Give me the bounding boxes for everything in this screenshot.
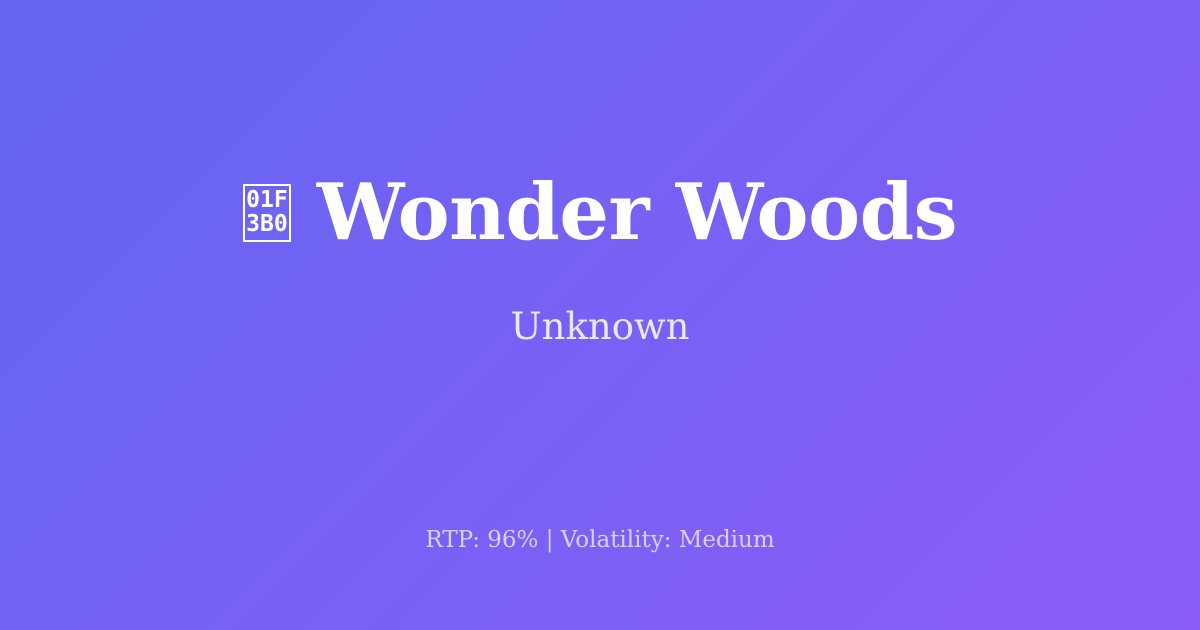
og-preview-card: 01F 3B0 Wonder Woods Unknown RTP: 96% | … bbox=[0, 0, 1200, 630]
hero-block: 01F 3B0 Wonder Woods Unknown bbox=[0, 174, 1200, 345]
game-stats-line: RTP: 96% | Volatility: Medium bbox=[0, 529, 1200, 552]
slot-machine-icon: 01F 3B0 bbox=[243, 184, 291, 242]
slot-machine-icon-codepoint-bottom: 3B0 bbox=[246, 213, 288, 236]
game-title-text: Wonder Woods bbox=[317, 174, 957, 252]
page-title: 01F 3B0 Wonder Woods bbox=[243, 174, 957, 252]
game-provider-subtitle: Unknown bbox=[510, 308, 689, 345]
slot-machine-icon-codepoint-top: 01F bbox=[246, 189, 288, 212]
